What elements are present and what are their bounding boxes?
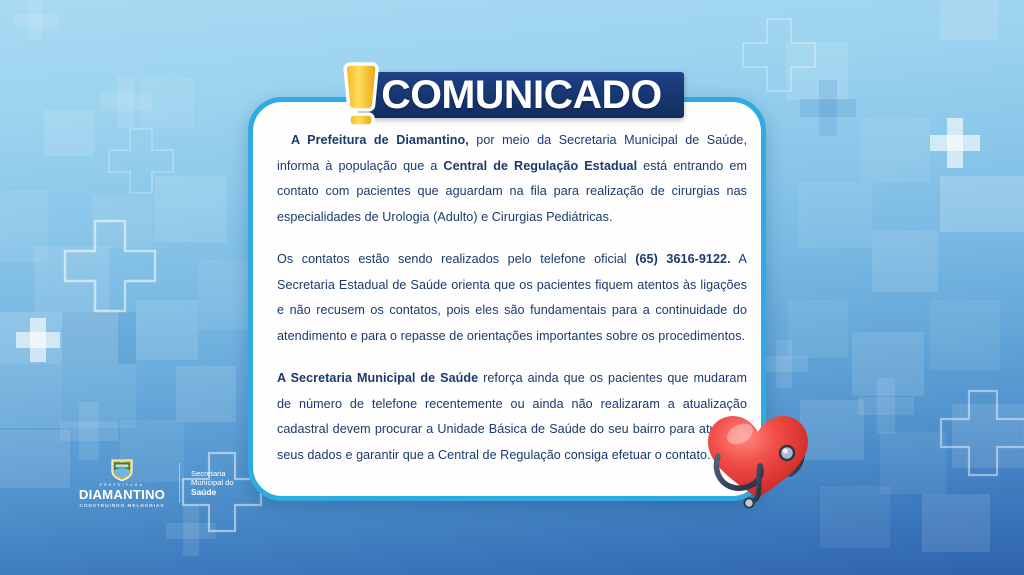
announcement-paragraph: A Prefeitura de Diamantino, por meio da … [277, 128, 747, 230]
cross-icon [930, 118, 980, 168]
emphasis-text: Central de Regulação Estadual [443, 159, 637, 173]
emphasis-text: (65) 3616-9122. [635, 252, 730, 266]
announcement-paragraph: A Secretaria Municipal de Saúde reforça … [277, 366, 747, 468]
coat-of-arms-icon [109, 458, 135, 482]
announcement-body: A Prefeitura de Diamantino, por meio da … [277, 128, 747, 468]
cross-outline-icon [62, 218, 158, 314]
prefeitura-name: DIAMANTINO [79, 488, 165, 502]
logo-divider [179, 463, 180, 503]
cross-icon [800, 80, 856, 136]
heart-stethoscope-illustration [694, 398, 822, 510]
announcement-card: A Prefeitura de Diamantino, por meio da … [248, 97, 766, 501]
cross-outline-icon [740, 16, 818, 94]
cross-outline-icon [106, 126, 176, 196]
comunicado-banner: COMUNICADO [358, 72, 684, 118]
page-title: COMUNICADO [381, 75, 661, 115]
emphasis-text: A Prefeitura de Diamantino, [291, 133, 469, 147]
prefeitura-tagline: CONSTRUINDO MELHORIAS [79, 502, 164, 509]
footer-logos: PREFEITURA DIAMANTINO CONSTRUINDO MELHOR… [72, 452, 252, 514]
secretaria-logo: Secretaria Municipal do Saúde [191, 469, 234, 497]
cross-icon [760, 340, 808, 388]
announcement-paragraph: Os contatos estão sendo realizados pelo … [277, 247, 747, 349]
secretaria-line1: Secretaria [191, 469, 234, 478]
comunicado-poster: A Prefeitura de Diamantino, por meio da … [0, 0, 1024, 575]
cross-icon [16, 318, 60, 362]
cross-icon [858, 378, 914, 434]
secretaria-line3: Saúde [191, 488, 234, 497]
cross-outline-icon [938, 388, 1024, 478]
exclamation-mark-icon [341, 60, 381, 128]
cross-icon [100, 76, 152, 128]
prefeitura-logo: PREFEITURA DIAMANTINO CONSTRUINDO MELHOR… [72, 458, 172, 509]
emphasis-text: A Secretaria Municipal de Saúde [277, 371, 478, 385]
cross-icon [14, 0, 58, 40]
